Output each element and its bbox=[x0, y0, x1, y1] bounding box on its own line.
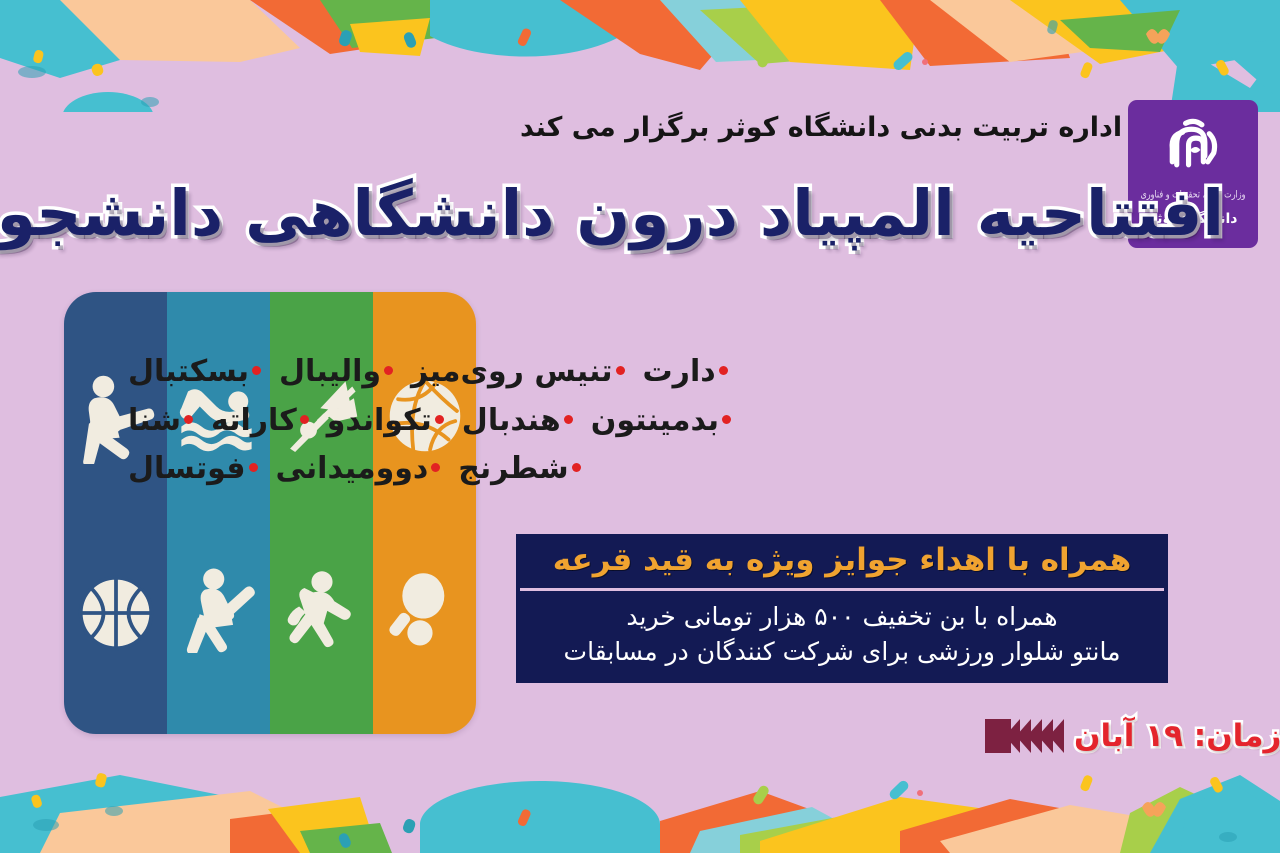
sport-item: تکواندو bbox=[327, 397, 444, 446]
chevron-decoration bbox=[985, 719, 1064, 753]
sport-item: دارت bbox=[643, 348, 728, 397]
sport-item: شنا bbox=[128, 397, 193, 446]
sport-label: بدمینتون bbox=[591, 403, 719, 438]
sport-item: بسکتبال bbox=[128, 348, 261, 397]
sport-label: تنیس روی‌میز bbox=[411, 354, 613, 389]
running-icon bbox=[278, 566, 366, 654]
sport-label: والیبال bbox=[279, 354, 381, 389]
tagline: اداره تربیت بدنی دانشگاه کوثر برگزار می … bbox=[520, 112, 1140, 143]
bullet-dot-icon bbox=[384, 366, 393, 375]
karate-icon bbox=[175, 565, 263, 653]
prize-headline: همراه با اهداء جوایز ویژه به قید قرعه bbox=[516, 534, 1168, 588]
bullet-dot-icon bbox=[572, 463, 581, 472]
sport-item: بدمینتون bbox=[591, 397, 731, 446]
basketball-icon bbox=[74, 571, 158, 655]
bottom-confetti-border bbox=[0, 753, 1280, 853]
bottom-confetti-shapes bbox=[0, 753, 1280, 853]
date-text: زمان: ۱۹ آبان bbox=[1068, 718, 1280, 754]
sport-item: شطرنج bbox=[458, 445, 580, 494]
sport-label: شنا bbox=[128, 403, 181, 438]
prize-info-block: همراه با اهداء جوایز ویژه به قید قرعه هم… bbox=[516, 534, 1168, 683]
sport-label: دوومیدانی bbox=[276, 451, 429, 486]
prize-line-1: همراه با بن تخفیف ۵۰۰ هزار تومانی خرید bbox=[530, 600, 1154, 635]
bullet-dot-icon bbox=[184, 415, 193, 424]
sport-item: کاراته bbox=[211, 397, 309, 446]
prize-line-2: مانتو شلوار ورزشی برای شرکت کنندگان در م… bbox=[530, 635, 1154, 670]
bullet-dot-icon bbox=[300, 415, 309, 424]
sport-label: بسکتبال bbox=[128, 354, 249, 389]
sport-label: کاراته bbox=[211, 403, 297, 438]
sport-label: هندبال bbox=[462, 403, 561, 438]
sport-item: فوتسال bbox=[128, 445, 258, 494]
sport-label: دارت bbox=[643, 354, 716, 389]
bullet-dot-icon bbox=[722, 415, 731, 424]
poster-canvas: وزارت علوم، تحقیقات و فناوری دانشگاه کوث… bbox=[0, 0, 1280, 853]
chevron-end-block bbox=[985, 719, 1011, 753]
bullet-dot-icon bbox=[564, 415, 573, 424]
bullet-dot-icon bbox=[616, 366, 625, 375]
sport-label: تکواندو bbox=[327, 403, 432, 438]
prize-body: همراه با بن تخفیف ۵۰۰ هزار تومانی خرید م… bbox=[516, 591, 1168, 683]
top-confetti-border bbox=[0, 0, 1280, 112]
sports-list: دارتتنیس روی‌میزوالیبالبسکتبال بدمینتونه… bbox=[110, 348, 1170, 494]
bullet-dot-icon bbox=[252, 366, 261, 375]
sport-item: تنیس روی‌میز bbox=[411, 348, 625, 397]
sports-row-2: بدمینتونهندبالتکواندوکاراتهشنا bbox=[110, 397, 1170, 446]
bullet-dot-icon bbox=[431, 463, 440, 472]
ministry-emblem-icon bbox=[1156, 110, 1230, 184]
sports-row-1: دارتتنیس روی‌میزوالیبالبسکتبال bbox=[110, 348, 1170, 397]
sport-item: دوومیدانی bbox=[276, 445, 441, 494]
bullet-dot-icon bbox=[249, 463, 258, 472]
sport-item: والیبال bbox=[279, 348, 393, 397]
date-badge: زمان: ۱۹ آبان bbox=[985, 718, 1280, 754]
sports-row-3: شطرنجدوومیدانیفوتسال bbox=[110, 445, 1170, 494]
bullet-dot-icon bbox=[719, 366, 728, 375]
sport-label: فوتسال bbox=[128, 451, 246, 486]
table-tennis-icon bbox=[383, 569, 467, 653]
sport-label: شطرنج bbox=[458, 451, 568, 486]
bullet-dot-icon bbox=[435, 415, 444, 424]
sport-item: هندبال bbox=[462, 397, 573, 446]
top-confetti-shapes bbox=[0, 0, 1280, 112]
page-title: افتتاحیه المپیاد درون دانشگاهی دانشجویان bbox=[94, 178, 1224, 250]
